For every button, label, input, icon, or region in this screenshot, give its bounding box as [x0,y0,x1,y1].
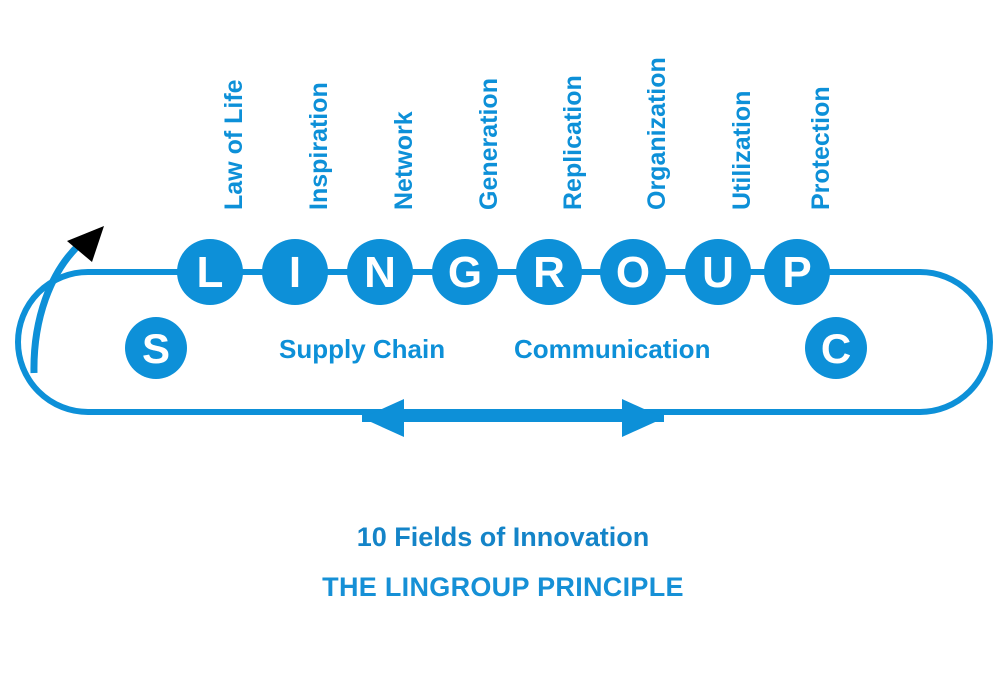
field-label-replication: Replication [561,75,586,210]
start-circle-S[interactable] [125,317,187,379]
field-label-protection: Protection [809,86,834,210]
letter-circle-L[interactable] [177,239,243,305]
inner-label-communication: Communication [514,336,710,362]
arrow-head-left-icon [362,399,404,437]
feedback-arrow-curve [34,244,80,373]
diagram-canvas: L I N G R O U P S C Law of Life Inspirat… [0,0,1006,681]
field-label-organization: Organization [645,57,670,210]
letter-circle-I[interactable] [262,239,328,305]
field-label-utilization: Utilization [730,91,755,210]
caption-line-1: 10 Fields of Innovation [0,524,1006,551]
caption-line-2: THE LINGROUP PRINCIPLE [0,574,1006,601]
feedback-arrow [34,226,104,373]
field-label-network: Network [392,111,417,210]
arrow-head-right-icon [622,399,664,437]
field-label-inspiration: Inspiration [307,82,332,210]
letter-circle-O[interactable] [600,239,666,305]
letter-circle-N[interactable] [347,239,413,305]
letter-circle-U[interactable] [685,239,751,305]
end-circle-C[interactable] [805,317,867,379]
field-label-generation: Generation [477,78,502,210]
letter-circle-G[interactable] [432,239,498,305]
bidirectional-arrow [362,399,664,437]
field-label-law-of-life: Law of Life [222,79,247,210]
bidirectional-arrow-shaft [362,414,664,422]
letter-circle-R[interactable] [516,239,582,305]
inner-label-supply-chain: Supply Chain [279,336,445,362]
letter-circle-P[interactable] [764,239,830,305]
